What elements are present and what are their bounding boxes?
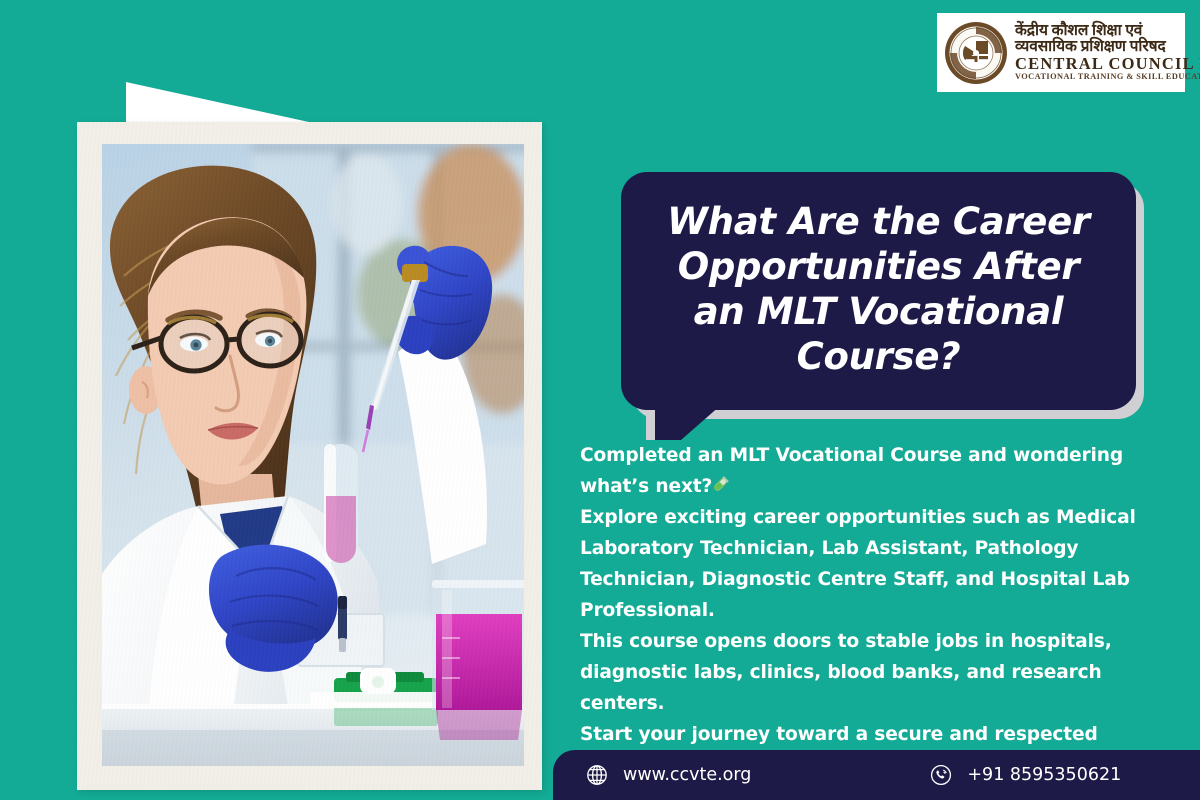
ccvte-emblem-icon [943,20,1009,86]
poster-canvas: केंद्रीय कौशल शिक्षा एवं व्यवसायिक प्रशि… [0,0,1200,800]
body-paragraph-2: Explore exciting career opportunities su… [580,502,1156,626]
test-tube-emoji-icon [712,469,736,493]
body-paragraph-1-text: Completed an MLT Vocational Course and w… [580,445,1123,497]
lab-technician-photo [102,144,524,766]
headline-bubble: What Are the Career Opportunities After … [621,172,1136,410]
body-copy: Completed an MLT Vocational Course and w… [580,440,1156,781]
headline-bubble-tail [655,398,729,440]
footer-phone-label: +91 8595350621 [967,765,1121,785]
photo-frame [77,122,542,790]
globe-icon [585,763,609,787]
contact-footer: www.ccvte.org +91 8595350621 [553,750,1200,800]
logo-hindi-line-1: केंद्रीय कौशल शिक्षा एवं [1015,23,1200,39]
footer-website[interactable]: www.ccvte.org [585,763,751,787]
lab-scene-illustration [102,144,524,766]
logo-english-title: CENTRAL COUNCIL FOR [1015,56,1200,73]
logo-english-subtitle: VOCATIONAL TRAINING & SKILL EDUCATION [1015,73,1200,81]
logo-hindi-line-2: व्यवसायिक प्रशिक्षण परिषद [1015,39,1200,55]
page-title: What Are the Career Opportunities After … [647,199,1110,380]
phone-circle-icon [929,763,953,787]
footer-website-label: www.ccvte.org [623,765,751,785]
organization-logo: केंद्रीय कौशल शिक्षा एवं व्यवसायिक प्रशि… [937,13,1185,92]
body-paragraph-3: This course opens doors to stable jobs i… [580,626,1156,719]
footer-phone[interactable]: +91 8595350621 [929,763,1121,787]
body-paragraph-1: Completed an MLT Vocational Course and w… [580,440,1156,502]
